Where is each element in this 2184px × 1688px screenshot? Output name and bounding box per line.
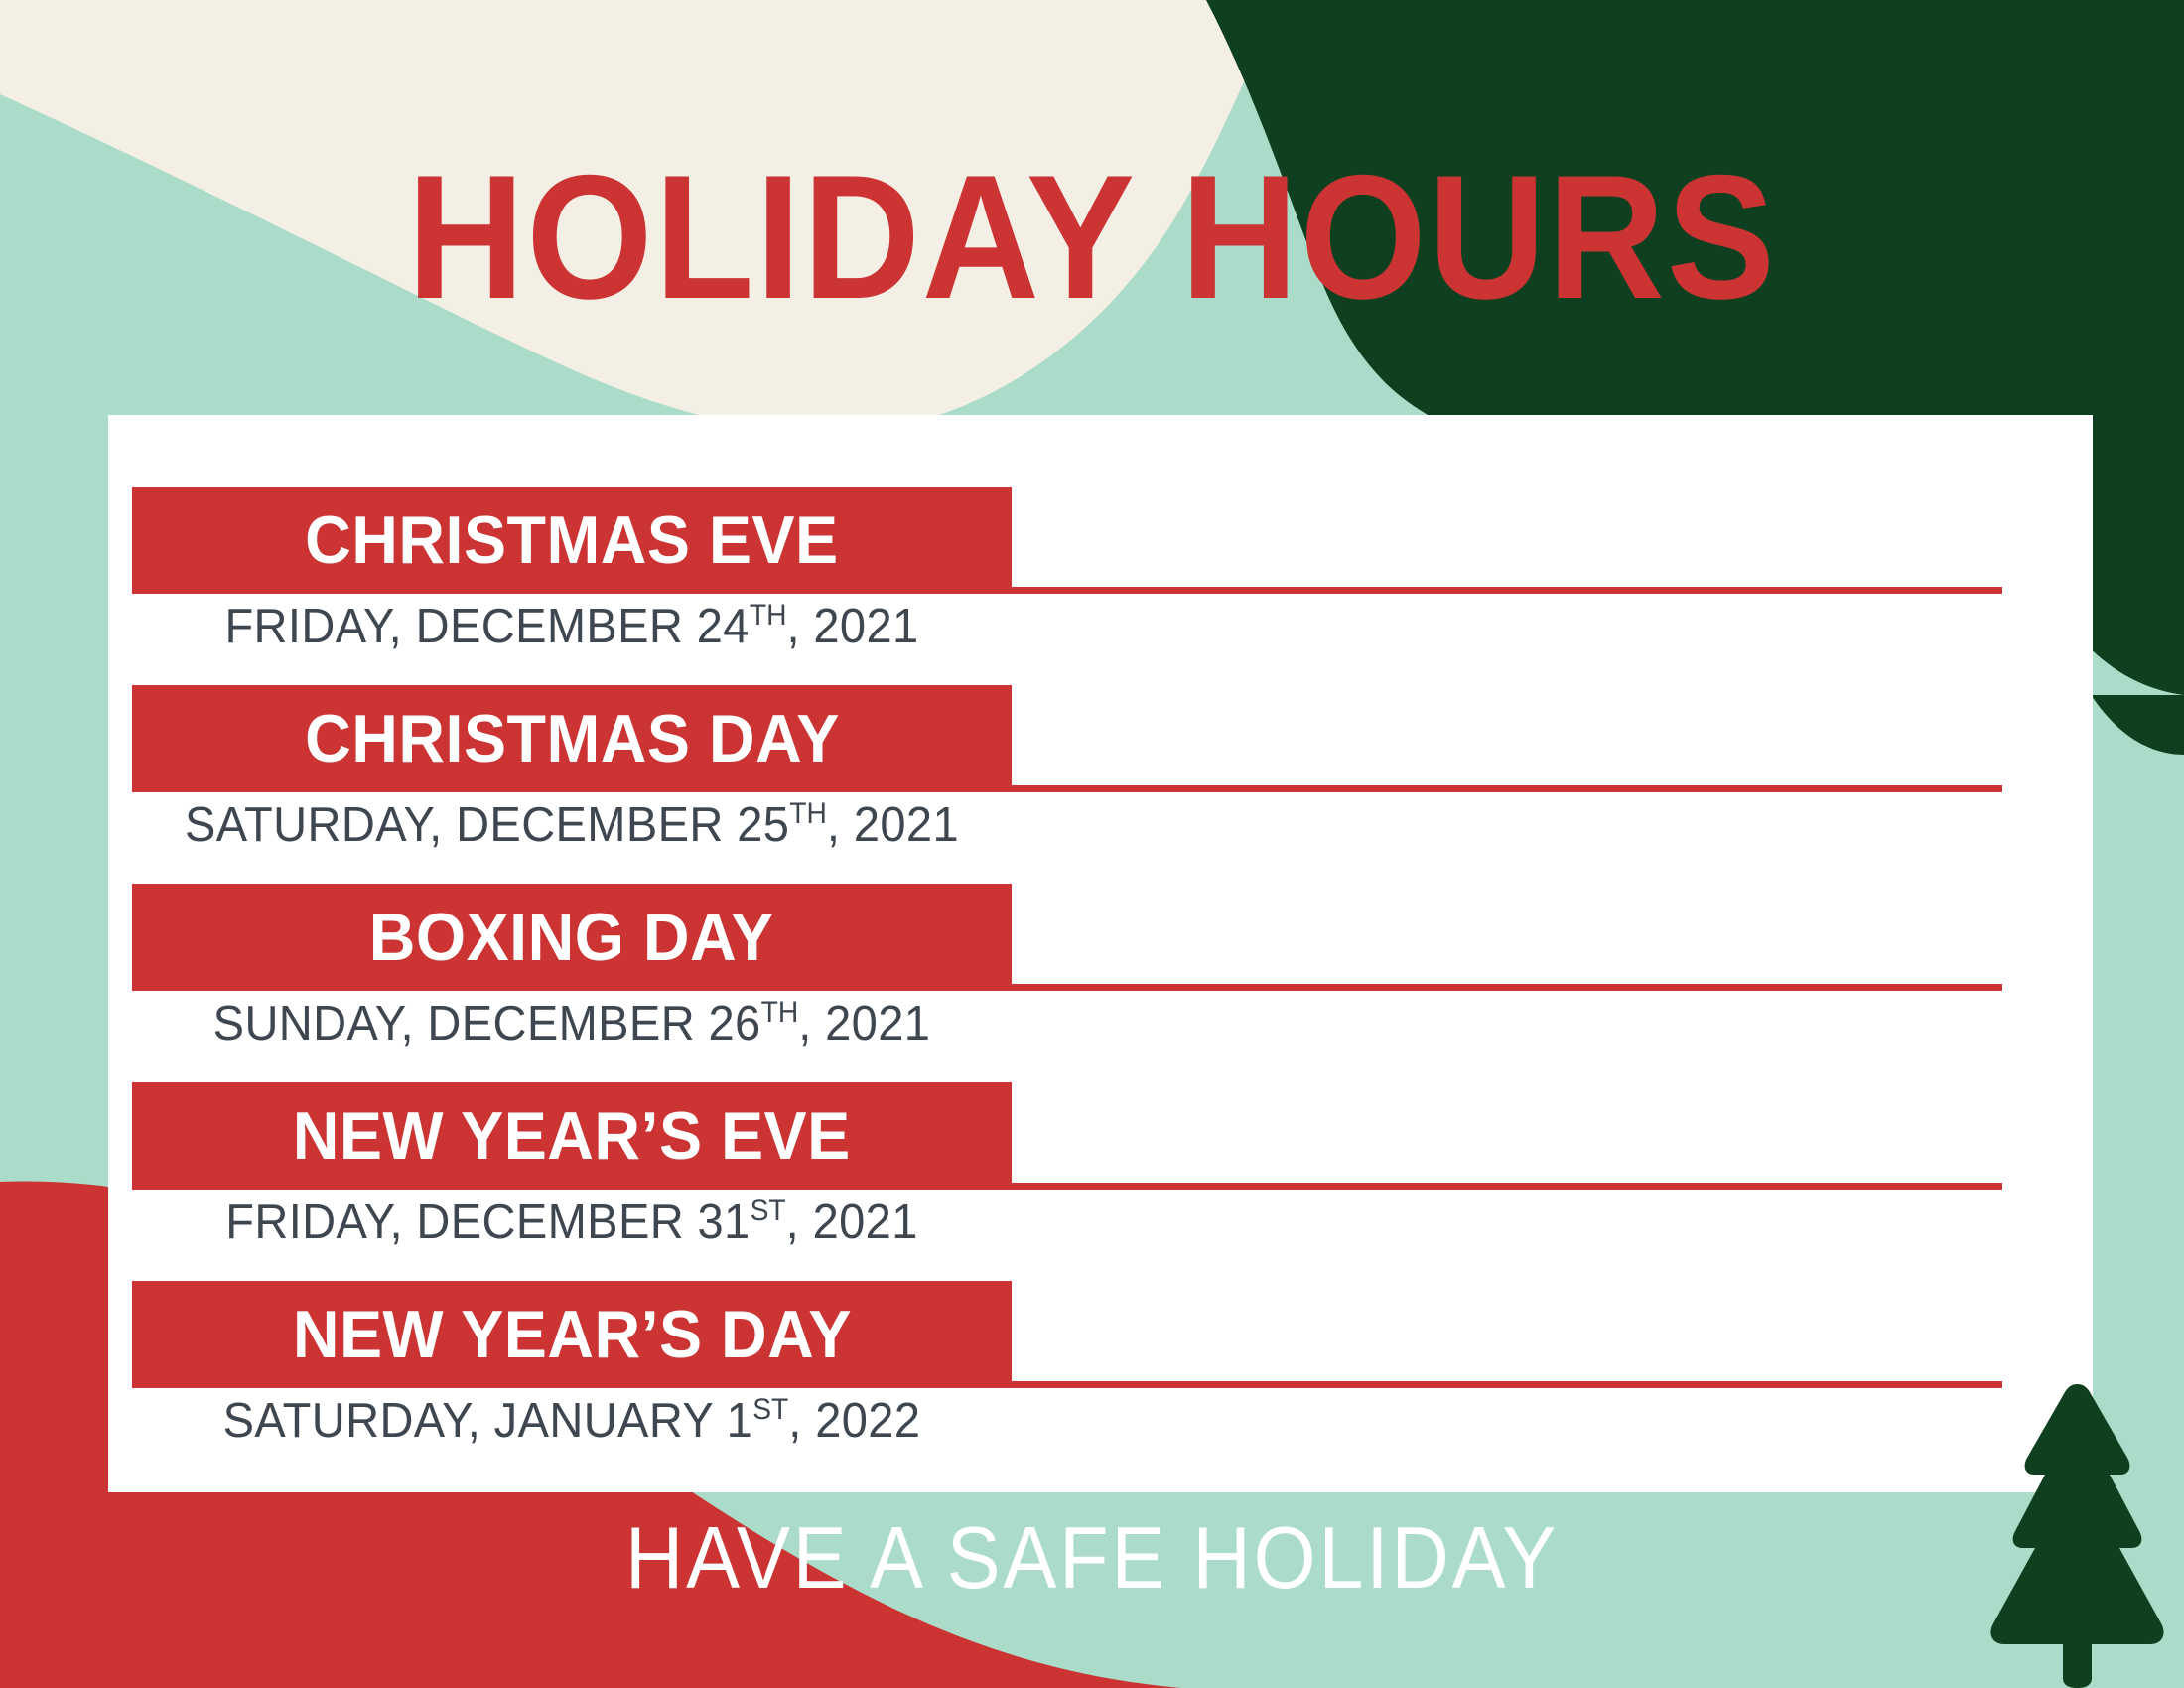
date-month: DECEMBER <box>427 997 708 1051</box>
date-weekday: SUNDAY, <box>213 997 428 1051</box>
holiday-date: FRIDAY, DECEMBER 24TH, 2021 <box>150 600 995 654</box>
date-year: , 2021 <box>798 997 930 1051</box>
date-day: 31 <box>698 1196 751 1249</box>
hours-write-in-rule <box>1012 984 2002 991</box>
hours-write-in-rule <box>1012 785 2002 792</box>
hours-write-in-rule <box>1012 1183 2002 1190</box>
page-title: HOLIDAY HOURS <box>87 149 2097 326</box>
footer-message: HAVE A SAFE HOLIDAY <box>87 1514 2097 1602</box>
holiday-date: SATURDAY, JANUARY 1ST, 2022 <box>150 1394 995 1449</box>
date-weekday: SATURDAY, <box>185 798 456 852</box>
holiday-banner: NEW YEAR’S DAY <box>132 1281 1012 1388</box>
holiday-name: BOXING DAY <box>369 904 774 971</box>
holiday-name: CHRISTMAS DAY <box>305 705 840 773</box>
date-month: DECEMBER <box>416 600 697 653</box>
hours-write-in-rule <box>1012 1381 2002 1388</box>
schedule-row: CHRISTMAS DAY SATURDAY, DECEMBER 25TH, 2… <box>108 685 2093 884</box>
holiday-name: NEW YEAR’S EVE <box>293 1102 851 1170</box>
date-day: 1 <box>727 1394 753 1448</box>
date-day: 25 <box>737 798 789 852</box>
date-weekday: SATURDAY, <box>223 1394 494 1448</box>
holiday-name: CHRISTMAS EVE <box>305 506 838 574</box>
holiday-banner: BOXING DAY <box>132 884 1012 991</box>
date-month: DECEMBER <box>456 798 737 852</box>
hours-write-in-rule <box>1012 587 2002 594</box>
date-ordinal: TH <box>750 599 787 632</box>
date-month: DECEMBER <box>416 1196 697 1249</box>
holiday-date: FRIDAY, DECEMBER 31ST, 2021 <box>150 1196 995 1250</box>
holiday-hours-poster: HOLIDAY HOURS CHRISTMAS EVE FRIDAY, DECE… <box>0 0 2184 1688</box>
date-ordinal: TH <box>789 797 827 830</box>
schedule-row: CHRISTMAS EVE FRIDAY, DECEMBER 24TH, 202… <box>108 487 2093 685</box>
schedule-row: BOXING DAY SUNDAY, DECEMBER 26TH, 2021 <box>108 884 2093 1082</box>
date-ordinal: TH <box>761 996 799 1029</box>
date-weekday: FRIDAY, <box>225 1196 416 1249</box>
holiday-name: NEW YEAR’S DAY <box>292 1301 851 1368</box>
date-year: , 2021 <box>786 600 918 653</box>
schedule-card: CHRISTMAS EVE FRIDAY, DECEMBER 24TH, 202… <box>108 415 2093 1492</box>
date-month: JANUARY <box>494 1394 727 1448</box>
holiday-banner: NEW YEAR’S EVE <box>132 1082 1012 1190</box>
date-ordinal: ST <box>751 1195 786 1227</box>
date-ordinal: ST <box>752 1393 788 1426</box>
date-day: 26 <box>709 997 761 1051</box>
holiday-date: SUNDAY, DECEMBER 26TH, 2021 <box>150 997 995 1052</box>
holiday-banner: CHRISTMAS DAY <box>132 685 1012 792</box>
holiday-date: SATURDAY, DECEMBER 25TH, 2021 <box>150 798 995 853</box>
date-day: 24 <box>697 600 750 653</box>
schedule-row: NEW YEAR’S EVE FRIDAY, DECEMBER 31ST, 20… <box>108 1082 2093 1281</box>
date-year: , 2021 <box>786 1196 918 1249</box>
date-weekday: FRIDAY, <box>224 600 415 653</box>
date-year: , 2022 <box>788 1394 920 1448</box>
holiday-banner: CHRISTMAS EVE <box>132 487 1012 594</box>
date-year: , 2021 <box>827 798 959 852</box>
schedule-rows: CHRISTMAS EVE FRIDAY, DECEMBER 24TH, 202… <box>108 415 2093 1492</box>
schedule-row: NEW YEAR’S DAY SATURDAY, JANUARY 1ST, 20… <box>108 1281 2093 1479</box>
